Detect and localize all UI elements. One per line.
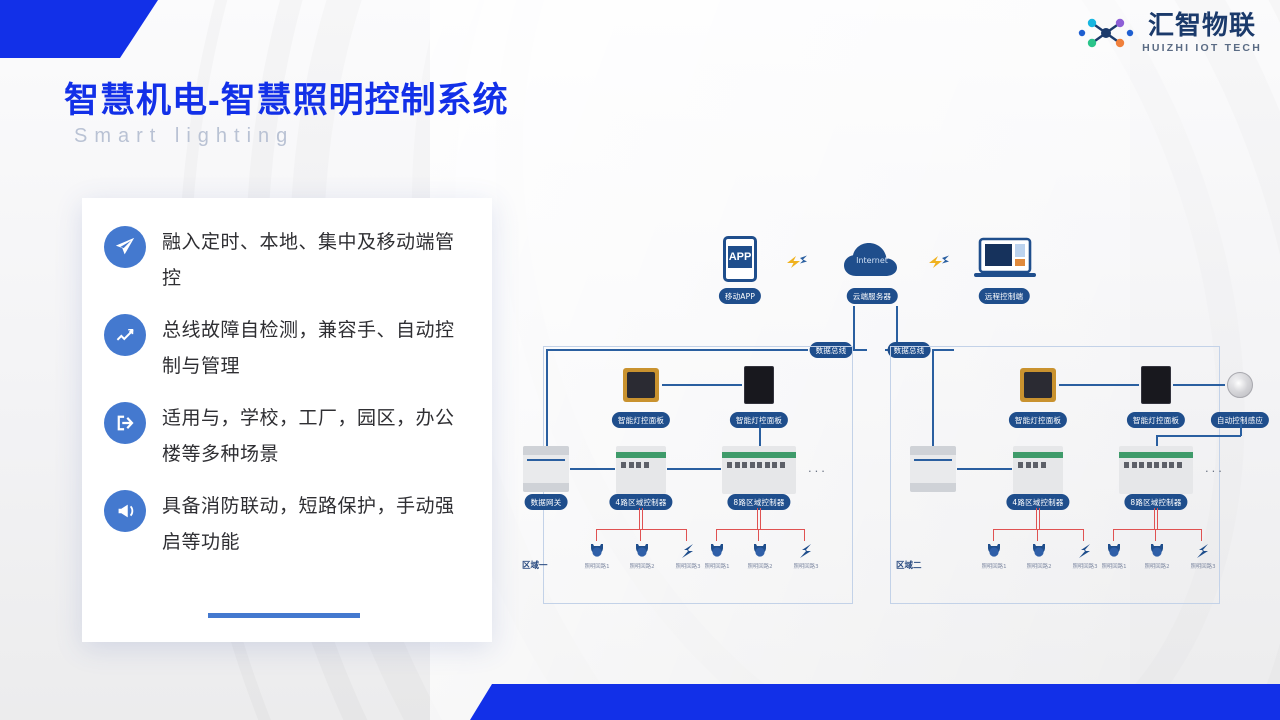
- zone2-sensor-drop: [1240, 422, 1242, 436]
- node-label-remote-terminal: 远程控制端: [979, 288, 1030, 304]
- zone2-panel-link-2: [1173, 384, 1225, 386]
- zone2-circuit-label-4: 照明回路1: [1102, 562, 1127, 570]
- zone2-lamp-2: [1030, 542, 1048, 560]
- feature-text-4: 具备消防联动，短路保护，手动强启等功能: [162, 488, 468, 560]
- zone1-link-c1-c2: [667, 468, 721, 470]
- page-subtitle: Smart lighting: [74, 125, 294, 148]
- zone1-lamp-1: [588, 542, 606, 560]
- paper-plane-icon: [104, 226, 146, 268]
- zone1-smart-panel-2: [744, 366, 774, 404]
- zone2-smart-panel-1: [1020, 368, 1056, 402]
- zone2-circuit-label-2: 照明回路2: [1027, 562, 1052, 570]
- node-label-mobile-app: 移动APP: [719, 288, 761, 304]
- zone2-lamp-4: [1105, 542, 1123, 560]
- card-accent-underline: [208, 613, 360, 618]
- logout-arrow-icon: [104, 402, 146, 444]
- zone1-data-gateway: [523, 446, 569, 492]
- footer-accent-bar: [470, 684, 1280, 720]
- auto-control-sensor-icon: [1227, 372, 1253, 398]
- zone2-lamp-5: [1148, 542, 1166, 560]
- zone1-lamp-2: [633, 542, 651, 560]
- zone1-panel-link: [662, 384, 742, 386]
- zone1-circuit-label-5: 照明回路2: [748, 562, 773, 570]
- zone1-lamp-5: [751, 542, 769, 560]
- cloud-caption: Internet: [856, 256, 888, 265]
- wireless-bolt-icon-2: [927, 254, 951, 268]
- zone2-data-gateway: [910, 446, 956, 492]
- logo-chinese-name: 汇智物联: [1148, 12, 1256, 38]
- laptop-icon: [974, 237, 1036, 281]
- smartphone-app-icon: APP: [723, 236, 757, 282]
- zone1-lamp-3: [679, 542, 697, 560]
- zone1-circuit-label-3: 照明回路3: [676, 562, 701, 570]
- zone2-panel-label-2: 智能灯控面板: [1127, 412, 1185, 428]
- molecule-node-icon: [1078, 13, 1134, 53]
- zone1-lamp-4: [708, 542, 726, 560]
- feature-item-2: 总线故障自检测，兼容手、自动控制与管理: [104, 312, 468, 384]
- zone2-lamp-1: [985, 542, 1003, 560]
- zone2-sensor-run: [1156, 435, 1241, 437]
- zone1-circuit-label-2: 照明回路2: [630, 562, 655, 570]
- cloud-icon: Internet: [840, 238, 904, 280]
- megaphone-icon: [104, 490, 146, 532]
- feature-item-4: 具备消防联动，短路保护，手动强启等功能: [104, 488, 468, 560]
- feature-text-1: 融入定时、本地、集中及移动端管控: [162, 224, 468, 296]
- features-card: 融入定时、本地、集中及移动端管控 总线故障自检测，兼容手、自动控制与管理 适用与…: [82, 198, 492, 642]
- zone1-circuit-label-1: 照明回路1: [585, 562, 610, 570]
- zone2-panel-link-1: [1059, 384, 1139, 386]
- zone-1-name: 区域一: [522, 559, 548, 571]
- page-title: 智慧机电-智慧照明控制系统: [64, 72, 509, 123]
- connector-cloud-left: [853, 306, 855, 350]
- zone1-circuit-label-4: 照明回路1: [705, 562, 730, 570]
- feature-item-1: 融入定时、本地、集中及移动端管控: [104, 224, 468, 296]
- zone2-controller-label-2: 8路区域控制器: [1124, 494, 1187, 510]
- architecture-diagram: APP 移动APP Internet 云端服务器 远程控制端 数据总线 数据总线: [500, 222, 1280, 622]
- zone1-controller-label-2: 8路区域控制器: [727, 494, 790, 510]
- zone2-link-gw-c1: [957, 468, 1012, 470]
- feature-text-2: 总线故障自检测，兼容手、自动控制与管理: [162, 312, 468, 384]
- brand-logo: 汇智物联 HUIZHI IOT TECH: [1078, 12, 1262, 54]
- zone1-controller-label-1: 4路区域控制器: [609, 494, 672, 510]
- zone2-controller-label-1: 4路区域控制器: [1006, 494, 1069, 510]
- zone2-controller-4ch: [1013, 446, 1063, 494]
- zone1-controller-4ch: [616, 446, 666, 494]
- node-label-cloud-server: 云端服务器: [847, 288, 898, 304]
- zone2-lamp-6: [1194, 542, 1212, 560]
- zone2-circuit-label-5: 照明回路2: [1145, 562, 1170, 570]
- zone1-lamp-6: [797, 542, 815, 560]
- zone1-panel2-drop: [759, 422, 761, 446]
- zone1-panel-label-1: 智能灯控面板: [612, 412, 670, 428]
- zone2-lamp-3: [1076, 542, 1094, 560]
- chart-line-icon: [104, 314, 146, 356]
- connector-bus-left-h: [853, 349, 867, 351]
- zone-2-name: 区域二: [896, 559, 922, 571]
- zone2-circuit-label-1: 照明回路1: [982, 562, 1007, 570]
- zone1-gateway-label: 数据网关: [525, 494, 568, 510]
- app-caption: APP: [728, 246, 752, 268]
- zone2-circuit-label-6: 照明回路3: [1191, 562, 1216, 570]
- zone2-more-ellipsis: ...: [1205, 460, 1225, 475]
- zone1-circuit-label-6: 照明回路3: [794, 562, 819, 570]
- zone1-link-gw-c1: [570, 468, 615, 470]
- wireless-bolt-icon: [785, 254, 809, 268]
- zone1-smart-panel-1: [623, 368, 659, 402]
- feature-text-3: 适用与，学校，工厂，园区，办公楼等多种场景: [162, 400, 468, 472]
- zone1-controller-8ch: [722, 446, 796, 494]
- feature-item-3: 适用与，学校，工厂，园区，办公楼等多种场景: [104, 400, 468, 472]
- zone1-more-ellipsis: ...: [808, 460, 828, 475]
- logo-english-name: HUIZHI IOT TECH: [1142, 43, 1262, 54]
- zone2-panel-label-1: 智能灯控面板: [1009, 412, 1067, 428]
- zone2-controller-8ch: [1119, 446, 1193, 494]
- zone2-circuit-label-3: 照明回路3: [1073, 562, 1098, 570]
- zone2-smart-panel-2: [1141, 366, 1171, 404]
